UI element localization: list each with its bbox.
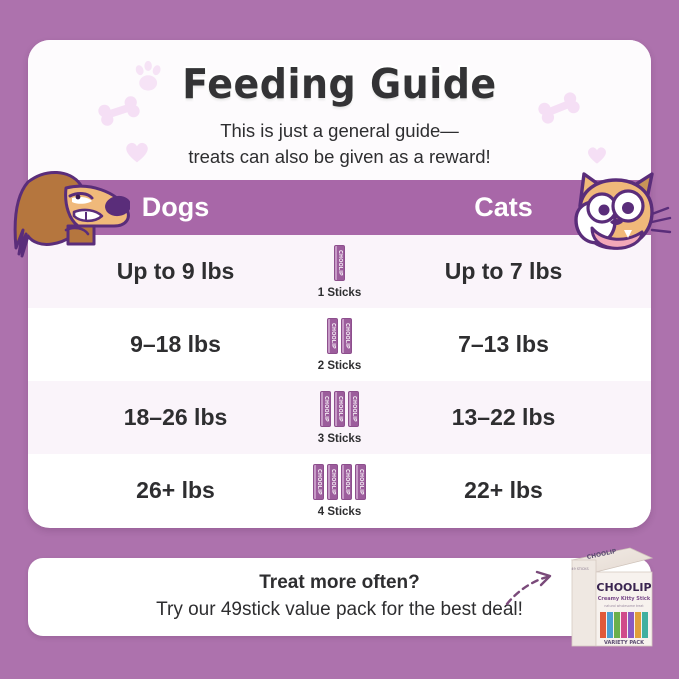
treat-stick-icon: CHOOLIP	[355, 464, 366, 500]
dog-weight-cell: 18–26 lbs	[48, 404, 303, 431]
curved-arrow-icon	[503, 568, 561, 610]
sticks-caption: 4 Sticks	[318, 506, 361, 518]
stick-brand-label: CHOOLIP	[337, 250, 343, 276]
product-sub-text: Creamy Kitty Stick	[598, 596, 651, 602]
stick-brand-label: CHOOLIP	[351, 396, 357, 422]
stick-brand-label: CHOOLIP	[330, 323, 336, 349]
stick-group: CHOOLIPCHOOLIPCHOOLIPCHOOLIP	[313, 464, 366, 500]
sticks-cell: CHOOLIPCHOOLIP2 Sticks	[303, 318, 376, 372]
cat-weight-cell: 13–22 lbs	[376, 404, 631, 431]
subtitle-line-2: treats can also be given as a reward!	[28, 144, 651, 170]
dog-weight-cell: Up to 9 lbs	[48, 258, 303, 285]
stick-brand-label: CHOOLIP	[316, 469, 322, 495]
treat-stick-icon: CHOOLIP	[348, 391, 359, 427]
product-brand-text: CHOOLIP	[596, 581, 651, 594]
stick-group: CHOOLIPCHOOLIP	[327, 318, 352, 354]
dog-weight-cell: 26+ lbs	[48, 477, 303, 504]
sticks-cell: CHOOLIP1 Sticks	[303, 245, 376, 299]
column-header-cats: Cats	[376, 192, 631, 223]
product-box-image[interactable]: CHOOLIP Creamy Kitty Stick natural whole…	[562, 546, 654, 651]
svg-text:natural wholesome treat: natural wholesome treat	[604, 604, 644, 608]
product-variety-text: VARIETY PACK	[604, 640, 645, 646]
dog-weight-cell: 9–18 lbs	[48, 331, 303, 358]
stick-brand-label: CHOOLIP	[337, 396, 343, 422]
sticks-caption: 3 Sticks	[318, 433, 361, 445]
table-row: 26+ lbsCHOOLIPCHOOLIPCHOOLIPCHOOLIP4 Sti…	[28, 454, 651, 527]
cat-weight-cell: Up to 7 lbs	[376, 258, 631, 285]
treat-stick-icon: CHOOLIP	[334, 245, 345, 281]
treat-stick-icon: CHOOLIP	[341, 464, 352, 500]
treat-stick-icon: CHOOLIP	[334, 391, 345, 427]
treat-stick-icon: CHOOLIP	[320, 391, 331, 427]
stick-group: CHOOLIPCHOOLIPCHOOLIP	[320, 391, 359, 427]
subtitle: This is just a general guide— treats can…	[28, 118, 651, 169]
stick-brand-label: CHOOLIP	[344, 323, 350, 349]
subtitle-line-1: This is just a general guide—	[28, 118, 651, 144]
sticks-caption: 1 Sticks	[318, 287, 361, 299]
sticks-cell: CHOOLIPCHOOLIPCHOOLIPCHOOLIP4 Sticks	[303, 464, 376, 518]
table-row: Up to 9 lbsCHOOLIP1 SticksUp to 7 lbs	[28, 235, 651, 308]
column-header-dogs: Dogs	[48, 192, 303, 223]
page-title-text: Feeding Guide	[182, 60, 496, 108]
stick-brand-label: CHOOLIP	[330, 469, 336, 495]
cat-weight-cell: 7–13 lbs	[376, 331, 631, 358]
treat-stick-icon: CHOOLIP	[313, 464, 324, 500]
treat-stick-icon: CHOOLIP	[327, 318, 338, 354]
stick-group: CHOOLIP	[334, 245, 345, 281]
stick-brand-label: CHOOLIP	[323, 396, 329, 422]
stick-brand-label: CHOOLIP	[358, 469, 364, 495]
table-row: 9–18 lbsCHOOLIPCHOOLIP2 Sticks7–13 lbs	[28, 308, 651, 381]
header-area: Feeding Guide This is just a general gui…	[28, 40, 651, 180]
page-title: Feeding Guide	[28, 62, 651, 106]
table-row: 18–26 lbsCHOOLIPCHOOLIPCHOOLIP3 Sticks13…	[28, 381, 651, 454]
treat-stick-icon: CHOOLIP	[327, 464, 338, 500]
svg-text:49 STICKS: 49 STICKS	[571, 567, 588, 571]
cat-weight-cell: 22+ lbs	[376, 477, 631, 504]
stick-brand-label: CHOOLIP	[344, 469, 350, 495]
table-body: Up to 9 lbsCHOOLIP1 SticksUp to 7 lbs9–1…	[28, 235, 651, 527]
table-header-row: Dogs Cats	[28, 180, 651, 235]
sticks-cell: CHOOLIPCHOOLIPCHOOLIP3 Sticks	[303, 391, 376, 445]
main-card: Feeding Guide This is just a general gui…	[28, 40, 651, 528]
treat-stick-icon: CHOOLIP	[341, 318, 352, 354]
sticks-caption: 2 Sticks	[318, 360, 361, 372]
feeding-guide-page: Feeding Guide This is just a general gui…	[0, 0, 679, 679]
